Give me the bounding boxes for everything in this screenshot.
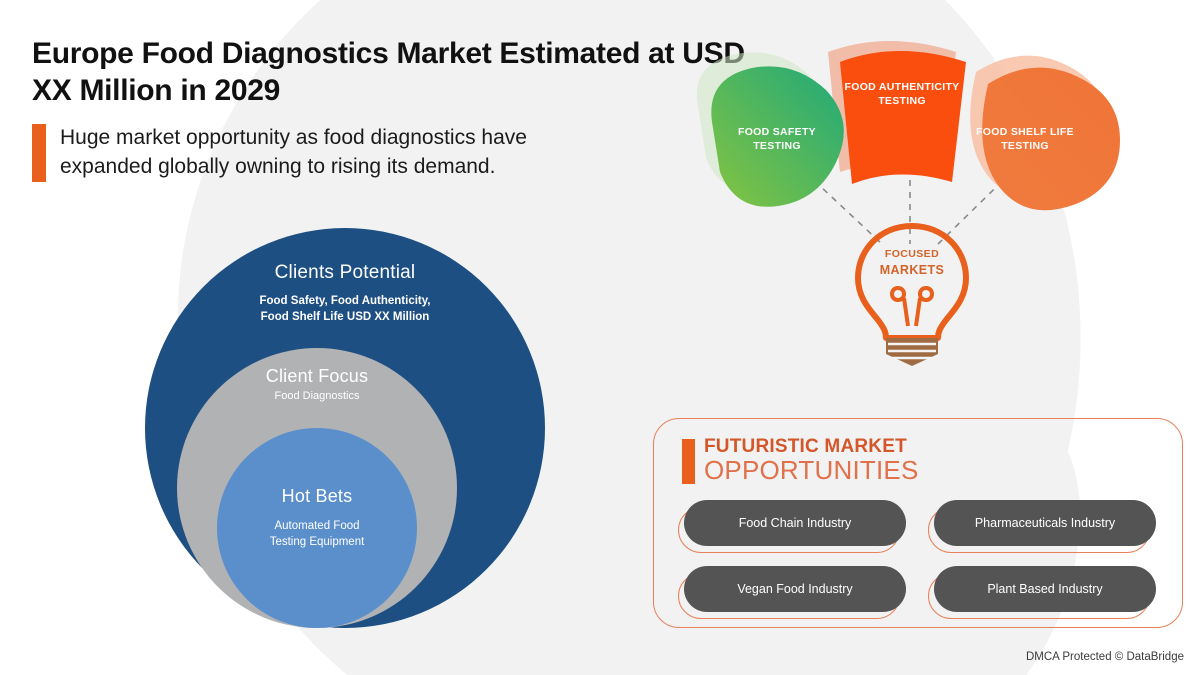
- circle-hot-bets-title: Hot Bets: [217, 486, 417, 507]
- focused-markets-fan: FOOD SAFETY TESTING FOOD AUTHENTICITY TE…: [660, 10, 1160, 230]
- circle-clients-potential-desc-line2: Food Shelf Life USD XX Million: [145, 310, 545, 326]
- page-title: Europe Food Diagnostics Market Estimated…: [32, 36, 762, 110]
- petal-food-authenticity-testing[interactable]: [840, 51, 966, 184]
- bulb-filament-left: [892, 288, 904, 300]
- circle-hot-bets[interactable]: Hot Bets Automated Food Testing Equipmen…: [217, 428, 417, 628]
- opportunity-item-label[interactable]: Vegan Food Industry: [684, 566, 906, 612]
- circle-hot-bets-label: Hot Bets Automated Food Testing Equipmen…: [217, 486, 417, 550]
- opportunity-item[interactable]: Plant Based Industry: [934, 566, 1156, 614]
- petal-food-shelf-life-testing[interactable]: [982, 68, 1120, 211]
- opportunities-heading-line2: OPPORTUNITIES: [704, 457, 919, 484]
- fan-svg: [660, 10, 1160, 230]
- subtitle-text: Huge market opportunity as food diagnost…: [60, 124, 620, 182]
- header: Europe Food Diagnostics Market Estimated…: [32, 36, 762, 182]
- petal-food-safety-testing[interactable]: [711, 66, 844, 206]
- opportunity-item[interactable]: Food Chain Industry: [684, 500, 906, 548]
- opportunity-item-label[interactable]: Food Chain Industry: [684, 500, 906, 546]
- opportunities-heading-line1: FUTURISTIC MARKET: [704, 437, 919, 457]
- circle-clients-potential-title: Clients Potential: [145, 262, 545, 284]
- circle-clients-potential-desc-line1: Food Safety, Food Authenticity,: [145, 294, 545, 310]
- circle-client-focus-label: Client Focus Food Diagnostics: [177, 366, 457, 404]
- circle-client-focus-desc: Food Diagnostics: [177, 389, 457, 404]
- circle-hot-bets-desc-line1: Automated Food: [217, 519, 417, 535]
- circle-hot-bets-desc-line2: Testing Equipment: [217, 535, 417, 551]
- bulb-icon: [838, 218, 986, 368]
- bulb-glass: [858, 226, 966, 338]
- focused-markets-bulb[interactable]: FOCUSED MARKETS: [838, 218, 986, 368]
- footer-copyright: DMCA Protected © DataBridge: [1026, 651, 1184, 663]
- bulb-filament-stem-right: [916, 298, 920, 326]
- opportunities-heading-text: FUTURISTIC MARKET OPPORTUNITIES: [704, 437, 919, 484]
- opportunities-grid: Food Chain Industry Pharmaceuticals Indu…: [684, 500, 1156, 614]
- concentric-circles-diagram: Clients Potential Food Safety, Food Auth…: [145, 228, 545, 628]
- opportunities-heading: FUTURISTIC MARKET OPPORTUNITIES: [682, 437, 1182, 484]
- infographic-canvas: Europe Food Diagnostics Market Estimated…: [0, 0, 1200, 675]
- accent-bar: [32, 124, 46, 182]
- circle-clients-potential-desc: Food Safety, Food Authenticity, Food She…: [145, 294, 545, 325]
- futuristic-market-opportunities-panel: FUTURISTIC MARKET OPPORTUNITIES Food Cha…: [653, 418, 1183, 628]
- opportunity-item[interactable]: Vegan Food Industry: [684, 566, 906, 614]
- circle-clients-potential-label: Clients Potential Food Safety, Food Auth…: [145, 262, 545, 325]
- opportunity-item-label[interactable]: Plant Based Industry: [934, 566, 1156, 612]
- opportunity-item-label[interactable]: Pharmaceuticals Industry: [934, 500, 1156, 546]
- bulb-filament-stem-left: [904, 298, 908, 326]
- subtitle-block: Huge market opportunity as food diagnost…: [32, 124, 762, 182]
- opportunities-accent-bar: [682, 439, 695, 484]
- bulb-filament-right: [920, 288, 932, 300]
- circle-hot-bets-desc: Automated Food Testing Equipment: [217, 519, 417, 550]
- circle-client-focus-title: Client Focus: [177, 366, 457, 387]
- opportunity-item[interactable]: Pharmaceuticals Industry: [934, 500, 1156, 548]
